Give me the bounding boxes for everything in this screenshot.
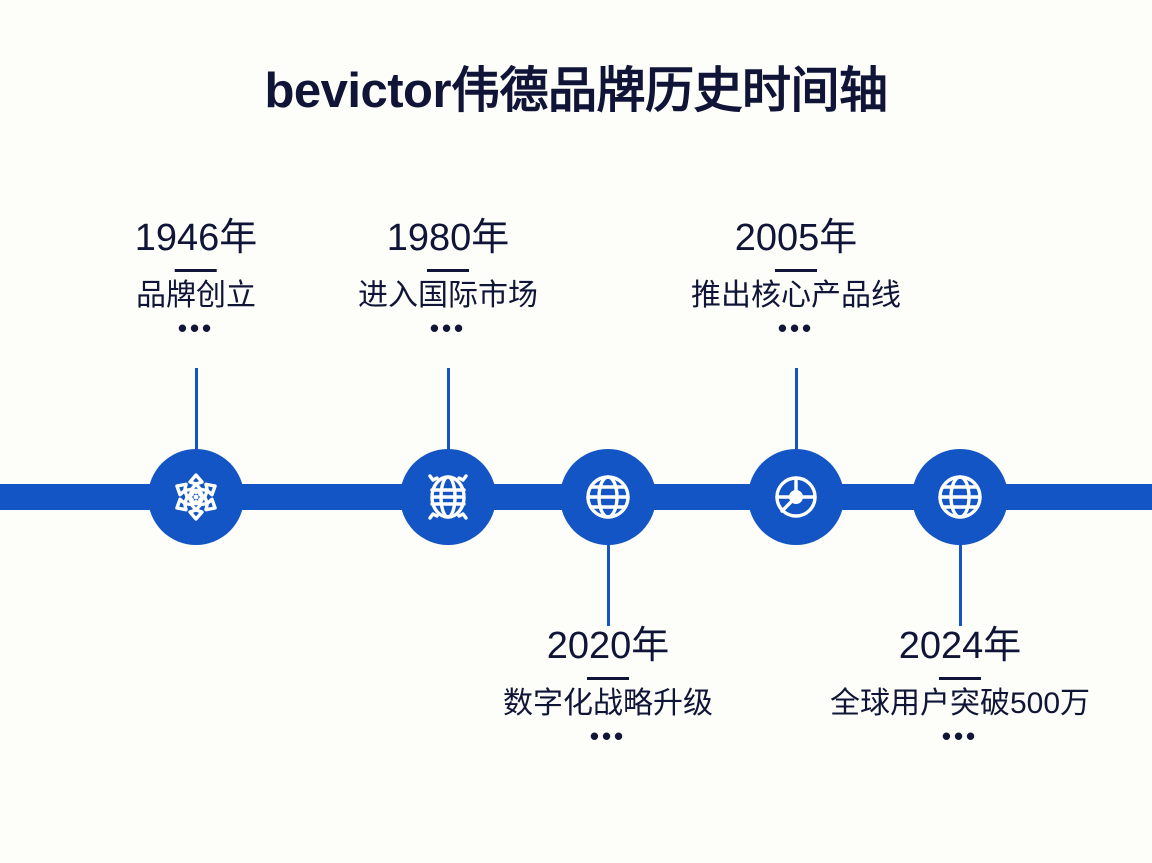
timeline-node-circle[interactable] [148,449,244,545]
timeline-year: 1980年 [358,218,538,260]
timeline-node-circle[interactable] [560,449,656,545]
timeline-year: 1946年 [135,218,258,260]
timeline-connector-line [447,368,450,452]
timeline-infographic: bevictor伟德品牌历史时间轴 1946年品牌创立•••1980年进入国际市… [0,0,1152,863]
timeline-connector-line [959,542,962,626]
ellipsis-marker: ••• [503,725,713,748]
timeline-description: 进入国际市场 [358,279,538,314]
timeline-year: 2005年 [691,218,901,260]
timeline-description: 数字化战略升级 [503,687,713,722]
timeline-entry: 2020年数字化战略升级••• [503,626,713,749]
page-title: bevictor伟德品牌历史时间轴 [0,62,1152,121]
ellipsis-marker: ••• [358,317,538,340]
ellipsis-marker: ••• [830,725,1090,748]
timeline-year: 2020年 [503,626,713,668]
timeline-node-circle[interactable] [912,449,1008,545]
timeline-entry: 1946年品牌创立••• [135,218,258,341]
divider-dash [587,677,629,680]
globe-icon [933,470,987,524]
timeline-connector-line [795,368,798,452]
divider-dash [775,269,817,272]
divider-dash [939,677,981,680]
timeline-description: 全球用户突破500万 [830,687,1090,722]
timeline-description: 品牌创立 [135,279,258,314]
globe-bracket-icon [421,470,475,524]
globe-icon [581,470,635,524]
timeline-entry: 2005年推出核心产品线••• [691,218,901,341]
divider-dash [175,269,217,272]
timeline-description: 推出核心产品线 [691,279,901,314]
ellipsis-marker: ••• [691,317,901,340]
timeline-entry: 1980年进入国际市场••• [358,218,538,341]
timeline-node-circle[interactable] [400,449,496,545]
target-wheel-icon [769,470,823,524]
timeline-year: 2024年 [830,626,1090,668]
timeline-entry: 2024年全球用户突破500万••• [830,626,1090,749]
snowflake-ornament-icon [169,470,223,524]
timeline-connector-line [195,368,198,452]
timeline-node-circle[interactable] [748,449,844,545]
timeline-connector-line [607,542,610,626]
ellipsis-marker: ••• [135,317,258,340]
divider-dash [427,269,469,272]
